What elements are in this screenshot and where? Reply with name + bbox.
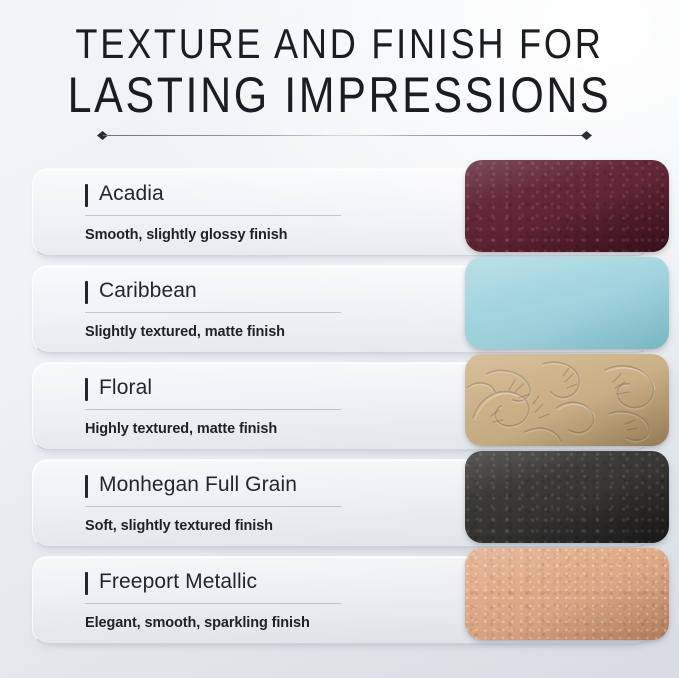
swatch-row[interactable]: Freeport MetallicElegant, smooth, sparkl… xyxy=(0,556,679,653)
swatch-description: Elegant, smooth, sparkling finish xyxy=(85,615,405,631)
infographic-poster: TEXTURE AND FINISH FOR LASTING IMPRESSIO… xyxy=(0,0,679,678)
title-divider xyxy=(97,128,592,144)
swatch-row[interactable]: CaribbeanSlightly textured, matte finish xyxy=(0,265,679,362)
color-swatch[interactable] xyxy=(465,451,669,543)
swatch-list: AcadiaSmooth, slightly glossy finishCari… xyxy=(0,168,679,653)
page-title-line-2: LASTING IMPRESSIONS xyxy=(48,69,632,122)
accent-bar-icon xyxy=(85,378,88,401)
color-swatch[interactable] xyxy=(465,257,669,349)
swatch-description: Highly textured, matte finish xyxy=(85,421,405,437)
page-title-line-1: TEXTURE AND FINISH FOR xyxy=(48,22,632,67)
swatch-description: Slightly textured, matte finish xyxy=(85,324,405,340)
divider-rule xyxy=(103,135,586,136)
swatch-text: CaribbeanSlightly textured, matte finish xyxy=(85,278,405,340)
swatch-description: Smooth, slightly glossy finish xyxy=(85,227,405,243)
accent-bar-icon xyxy=(85,184,88,207)
swatch-name-wrap: Monhegan Full Grain xyxy=(85,472,341,507)
accent-bar-icon xyxy=(85,475,88,498)
swatch-name: Acadia xyxy=(99,181,341,208)
swatch-sheen xyxy=(465,548,669,640)
swatch-text: Freeport MetallicElegant, smooth, sparkl… xyxy=(85,569,405,631)
swatch-name: Caribbean xyxy=(99,278,341,305)
swatch-text: FloralHighly textured, matte finish xyxy=(85,375,405,437)
swatch-row[interactable]: AcadiaSmooth, slightly glossy finish xyxy=(0,168,679,265)
swatch-sheen xyxy=(465,451,669,543)
swatch-name-wrap: Floral xyxy=(85,375,341,410)
swatch-name-wrap: Caribbean xyxy=(85,278,341,313)
accent-bar-icon xyxy=(85,572,88,595)
diamond-right-icon xyxy=(581,131,592,140)
swatch-text: Monhegan Full GrainSoft, slightly textur… xyxy=(85,472,405,534)
swatch-name: Monhegan Full Grain xyxy=(99,472,341,499)
accent-bar-icon xyxy=(85,281,88,304)
swatch-sheen xyxy=(465,257,669,349)
swatch-sheen xyxy=(465,354,669,446)
swatch-description: Soft, slightly textured finish xyxy=(85,518,405,534)
swatch-row[interactable]: Monhegan Full GrainSoft, slightly textur… xyxy=(0,459,679,556)
swatch-name-wrap: Acadia xyxy=(85,181,341,216)
swatch-text: AcadiaSmooth, slightly glossy finish xyxy=(85,181,405,243)
header: TEXTURE AND FINISH FOR LASTING IMPRESSIO… xyxy=(0,0,679,122)
color-swatch[interactable] xyxy=(465,160,669,252)
swatch-name: Freeport Metallic xyxy=(99,569,341,596)
swatch-name: Floral xyxy=(99,375,341,402)
swatch-row[interactable]: FloralHighly textured, matte finish xyxy=(0,362,679,459)
swatch-name-wrap: Freeport Metallic xyxy=(85,569,341,604)
color-swatch[interactable] xyxy=(465,548,669,640)
swatch-sheen xyxy=(465,160,669,252)
color-swatch[interactable] xyxy=(465,354,669,446)
